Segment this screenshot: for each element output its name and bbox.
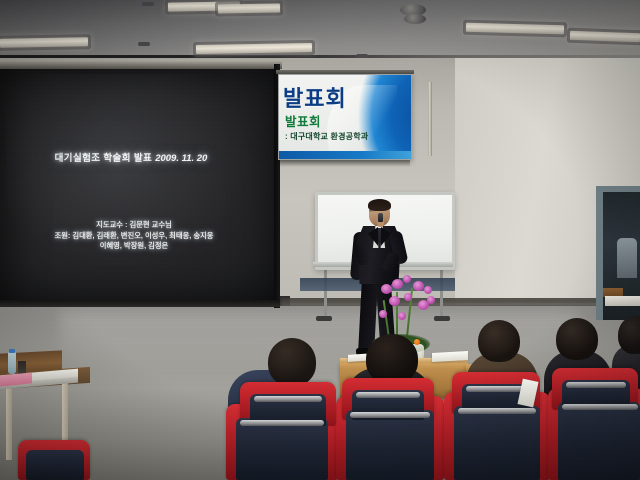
chair-6-bar bbox=[356, 392, 420, 398]
orchid-bloom-2 bbox=[392, 279, 403, 289]
banner-headline: 발표회 bbox=[283, 81, 347, 113]
slide-advisor-line: 지도교수 : 김문현 교수님 bbox=[0, 220, 268, 231]
microphone-icon bbox=[378, 213, 383, 222]
water-bottle bbox=[8, 352, 16, 374]
screen-roller bbox=[0, 60, 282, 69]
banner-department-line: : 대구대학교 환경공학과 bbox=[285, 131, 368, 142]
presenter-hair bbox=[368, 199, 391, 211]
chair-2-pad bbox=[346, 410, 434, 480]
orchid-bloom-11 bbox=[427, 296, 435, 304]
orchid-bloom-10 bbox=[398, 312, 406, 320]
chair-7-bar bbox=[466, 386, 526, 392]
lecture-hall-photo: 대기실험조 학술회 발표 2009. 11. 20 지도교수 : 김문현 교수님… bbox=[0, 0, 640, 480]
ceiling-fixture-2 bbox=[138, 42, 150, 46]
person-in-doorway bbox=[617, 238, 637, 278]
audience-member-4-head bbox=[556, 318, 598, 360]
banner-support-pole bbox=[428, 82, 432, 156]
orchid-bloom-3 bbox=[403, 275, 411, 283]
chair-2-bar bbox=[350, 412, 430, 418]
chair-1-pad bbox=[236, 418, 328, 480]
whiteboard-leg-left bbox=[324, 266, 327, 318]
slide-title-text: 대기실험조 학술회 발표 bbox=[55, 153, 152, 164]
screen-bottom-bar bbox=[0, 300, 280, 307]
orchid-bloom-1 bbox=[381, 284, 392, 294]
ceiling-light-2 bbox=[218, 3, 280, 13]
doorway-counter bbox=[605, 296, 640, 306]
slide-title-line: 대기실험조 학술회 발표 2009. 11. 20 bbox=[0, 150, 262, 164]
water-bottle-cap bbox=[9, 349, 15, 353]
banner-subline: 발표회 bbox=[285, 111, 321, 130]
orchid-bloom-7 bbox=[404, 293, 412, 301]
ceiling-vent-2 bbox=[404, 14, 426, 24]
ceiling-light-4 bbox=[0, 37, 88, 48]
chair-5-bar bbox=[254, 396, 322, 402]
banner-shadow bbox=[280, 160, 410, 167]
chair-3-pad bbox=[454, 406, 540, 480]
chair-8-bar bbox=[566, 382, 626, 388]
whiteboard-leg-right bbox=[440, 266, 443, 318]
baseboard-right bbox=[282, 298, 640, 306]
chair-3-bar bbox=[458, 408, 536, 414]
projection-screen bbox=[0, 67, 279, 305]
side-table-leg-left bbox=[6, 386, 12, 460]
slide-title-date: 2009. 11. 20 bbox=[155, 153, 207, 164]
chair-4-pad bbox=[558, 402, 640, 480]
orchid-bloom-6 bbox=[389, 296, 400, 306]
orchid-bloom-4 bbox=[413, 281, 424, 291]
whiteboard-foot-right bbox=[434, 316, 450, 321]
chair-1-bar bbox=[240, 420, 324, 426]
orchid-bloom-9 bbox=[379, 310, 387, 318]
whiteboard-foot-left bbox=[316, 316, 332, 321]
slide-members-line-2: 이혜영, 박장원, 김정은 bbox=[0, 241, 268, 252]
banner-top-frame bbox=[276, 70, 414, 74]
slide-credits-block: 지도교수 : 김문현 교수님 조원: 김대환, 김래환, 변진오, 이성우, 최… bbox=[0, 220, 268, 252]
audience-member-3-head bbox=[478, 320, 520, 362]
banner-bottom-bar bbox=[279, 151, 411, 159]
audience-member-6-head bbox=[618, 316, 640, 354]
orchid-bloom-5 bbox=[424, 286, 432, 294]
chair-4-bar bbox=[562, 404, 638, 410]
audience-member-2-head bbox=[366, 334, 418, 384]
audience-member-1-head bbox=[268, 338, 316, 386]
table-paper-right bbox=[432, 351, 468, 362]
slide-members-line-1: 조원: 김대환, 김래환, 변진오, 이성우, 최태웅, 송지웅 bbox=[0, 231, 268, 242]
event-banner: 발표회 발표회 : 대구대학교 환경공학과 bbox=[278, 74, 412, 160]
orange-flower-4 bbox=[414, 339, 420, 345]
chair-9-pad bbox=[26, 450, 84, 480]
ceiling-fixture-1 bbox=[142, 2, 154, 6]
